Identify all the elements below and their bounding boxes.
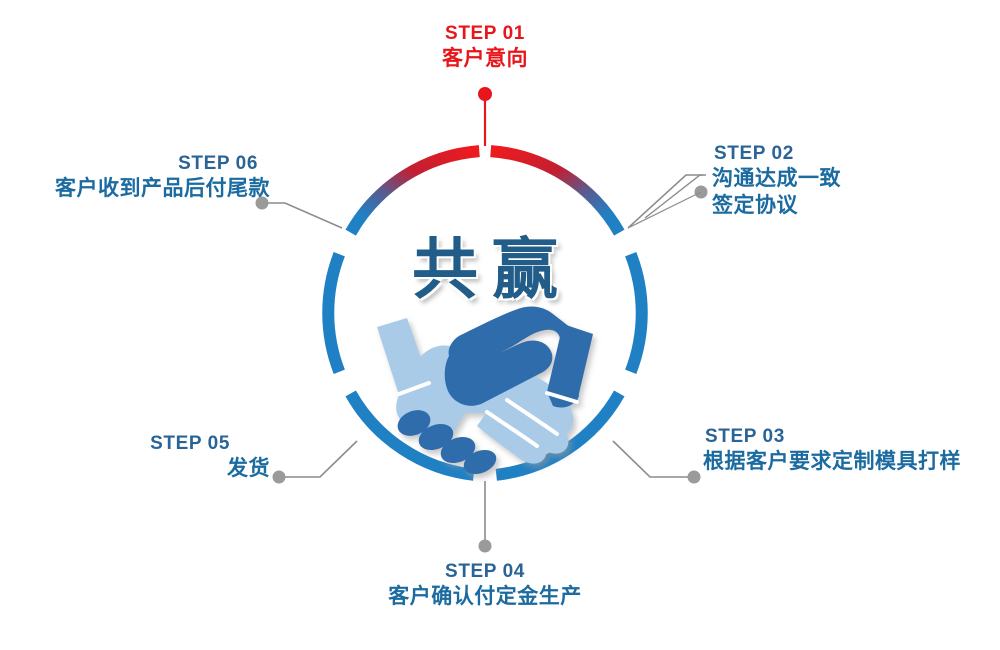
center-title: 共赢 [385,216,585,312]
step-number-05: STEP 05 [10,432,270,456]
step-number-04: STEP 04 [355,560,615,584]
ring-segment-5 [328,254,339,372]
step-title-01-line-1: 客户意向 [355,46,615,73]
step-title-02: 沟通达成一致 签定协议 [712,166,982,220]
connector-step-02-elbow [645,175,703,218]
step-title-06: 客户收到产品后付尾款 [10,176,270,203]
step-title-01: 客户意向 [355,46,615,73]
step-number-06: STEP 06 [10,152,270,176]
step-title-05-line-1: 发货 [10,456,270,483]
ring-segment-2 [631,254,642,372]
step-title-05: 发货 [10,456,270,483]
dot-step-04 [479,540,492,553]
step-label-05[interactable]: STEP 05 发货 [10,432,270,483]
dot-step-03 [688,471,701,484]
connector-step-03 [613,441,690,477]
step-title-03-line-1: 根据客户要求定制模具打样 [703,449,993,476]
step-label-01[interactable]: STEP 01 客户意向 [355,22,615,73]
step-label-03[interactable]: STEP 03 根据客户要求定制模具打样 [703,425,993,476]
step-label-04[interactable]: STEP 04 客户确认付定金生产 [355,560,615,611]
step-number-03: STEP 03 [703,425,993,449]
step-label-02[interactable]: STEP 02 沟通达成一致 签定协议 [712,142,982,220]
step-title-03: 根据客户要求定制模具打样 [703,449,993,476]
step-title-04-line-1: 客户确认付定金生产 [355,584,615,611]
dot-step-01 [478,87,492,101]
step-title-06-line-1: 客户收到产品后付尾款 [10,176,270,203]
step-title-04: 客户确认付定金生产 [355,584,615,611]
connector-step-02-stub [628,192,701,228]
step-title-02-line-2: 签定协议 [712,193,982,220]
process-circle-diagram [0,0,1000,650]
step-label-06[interactable]: STEP 06 客户收到产品后付尾款 [10,152,270,203]
step-number-02: STEP 02 [712,142,982,166]
connector-step-06 [266,203,342,228]
step-number-01: STEP 01 [355,22,615,46]
dot-step-05 [273,471,286,484]
infographic-canvas: 共赢 STEP 01 客户意向 STEP 02 沟通达成一致 签定协议 STEP… [0,0,1000,650]
connector-step-05 [283,441,357,477]
step-title-02-line-1: 沟通达成一致 [712,166,982,193]
